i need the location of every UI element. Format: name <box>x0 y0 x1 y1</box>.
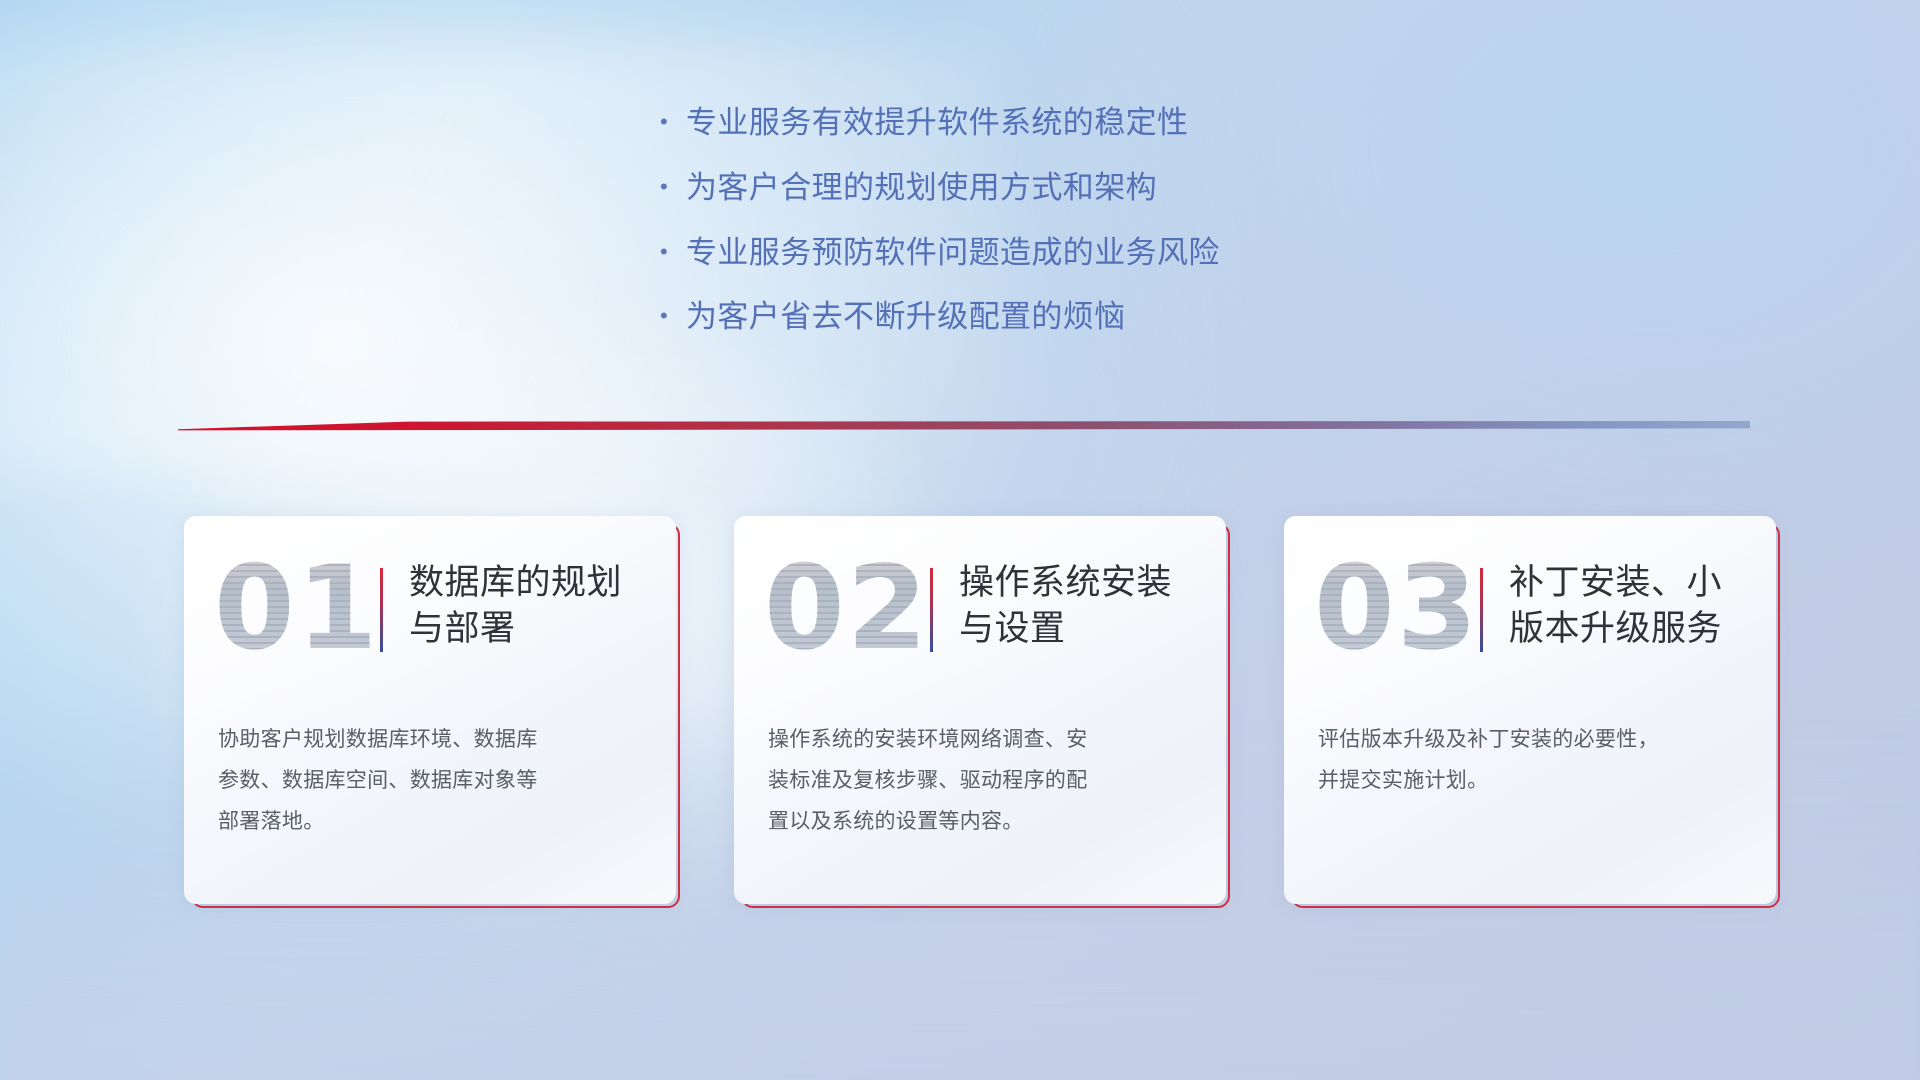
benefits-bullet-list: • 专业服务有效提升软件系统的稳定性 • 为客户合理的规划使用方式和架构 • 专… <box>660 104 1420 363</box>
bullet-marker-icon: • <box>660 305 686 327</box>
card-body-line: 装标准及复核步骤、驱动程序的配 <box>768 761 1196 802</box>
card-number-watermark: 03 <box>1314 534 1479 684</box>
card-title: 补丁安装、小 版本升级服务 <box>1509 560 1722 651</box>
service-card[interactable]: 02 操作系统安装 与设置 操作系统的安装环境网络调查、安 装标准及复核步骤、驱… <box>734 516 1226 904</box>
card-title-line: 与设置 <box>959 609 1066 648</box>
card-title-line: 操作系统安装 <box>959 563 1172 602</box>
card-title: 数据库的规划 与部署 <box>409 560 622 651</box>
card-title-accent-bar <box>930 568 933 652</box>
card-body-line: 评估版本升级及补丁安装的必要性， <box>1318 720 1746 761</box>
card-title-block: 补丁安装、小 版本升级服务 <box>1480 560 1754 652</box>
card-title-line: 数据库的规划 <box>409 563 622 602</box>
card-body-text: 操作系统的安装环境网络调查、安 装标准及复核步骤、驱动程序的配 置以及系统的设置… <box>768 720 1196 843</box>
bullet-item: • 为客户省去不断升级配置的烦恼 <box>660 298 1420 336</box>
card-body-text: 评估版本升级及补丁安装的必要性， 并提交实施计划。 <box>1318 720 1746 802</box>
bullet-marker-icon: • <box>660 176 686 198</box>
card-title-line: 版本升级服务 <box>1509 609 1722 648</box>
bullet-text: 为客户合理的规划使用方式和架构 <box>686 169 1157 207</box>
card-title-line: 与部署 <box>409 609 516 648</box>
card-title-accent-bar <box>380 568 383 652</box>
service-card[interactable]: 03 补丁安装、小 版本升级服务 评估版本升级及补丁安装的必要性， 并提交实施计… <box>1284 516 1776 904</box>
section-divider <box>178 416 1750 436</box>
card-surface: 01 数据库的规划 与部署 协助客户规划数据库环境、数据库 参数、数据库空间、数… <box>184 516 676 904</box>
bullet-text: 专业服务有效提升软件系统的稳定性 <box>686 104 1188 142</box>
card-header: 01 数据库的规划 与部署 <box>184 516 676 706</box>
card-body-line: 置以及系统的设置等内容。 <box>768 802 1196 843</box>
bullet-marker-icon: • <box>660 241 686 263</box>
bullet-item: • 为客户合理的规划使用方式和架构 <box>660 169 1420 207</box>
card-header: 03 补丁安装、小 版本升级服务 <box>1284 516 1776 706</box>
bullet-text: 为客户省去不断升级配置的烦恼 <box>686 298 1126 336</box>
service-card-list: 01 数据库的规划 与部署 协助客户规划数据库环境、数据库 参数、数据库空间、数… <box>184 516 1776 904</box>
card-number-watermark: 01 <box>214 534 379 684</box>
card-title-block: 操作系统安装 与设置 <box>930 560 1204 652</box>
bullet-text: 专业服务预防软件问题造成的业务风险 <box>686 234 1220 272</box>
card-body-line: 操作系统的安装环境网络调查、安 <box>768 720 1196 761</box>
card-body-line: 参数、数据库空间、数据库对象等 <box>218 761 646 802</box>
card-number-watermark: 02 <box>764 534 929 684</box>
card-body-text: 协助客户规划数据库环境、数据库 参数、数据库空间、数据库对象等 部署落地。 <box>218 720 646 843</box>
card-title: 操作系统安装 与设置 <box>959 560 1172 651</box>
card-title-accent-bar <box>1480 568 1483 652</box>
bullet-item: • 专业服务预防软件问题造成的业务风险 <box>660 234 1420 272</box>
card-body-line: 协助客户规划数据库环境、数据库 <box>218 720 646 761</box>
divider-wedge-shape <box>178 416 1750 436</box>
bullet-marker-icon: • <box>660 111 686 133</box>
card-header: 02 操作系统安装 与设置 <box>734 516 1226 706</box>
card-surface: 03 补丁安装、小 版本升级服务 评估版本升级及补丁安装的必要性， 并提交实施计… <box>1284 516 1776 904</box>
card-body-line: 并提交实施计划。 <box>1318 761 1746 802</box>
service-card[interactable]: 01 数据库的规划 与部署 协助客户规划数据库环境、数据库 参数、数据库空间、数… <box>184 516 676 904</box>
card-body-line: 部署落地。 <box>218 802 646 843</box>
bullet-item: • 专业服务有效提升软件系统的稳定性 <box>660 104 1420 142</box>
card-title-line: 补丁安装、小 <box>1509 563 1722 602</box>
card-surface: 02 操作系统安装 与设置 操作系统的安装环境网络调查、安 装标准及复核步骤、驱… <box>734 516 1226 904</box>
card-title-block: 数据库的规划 与部署 <box>380 560 654 652</box>
